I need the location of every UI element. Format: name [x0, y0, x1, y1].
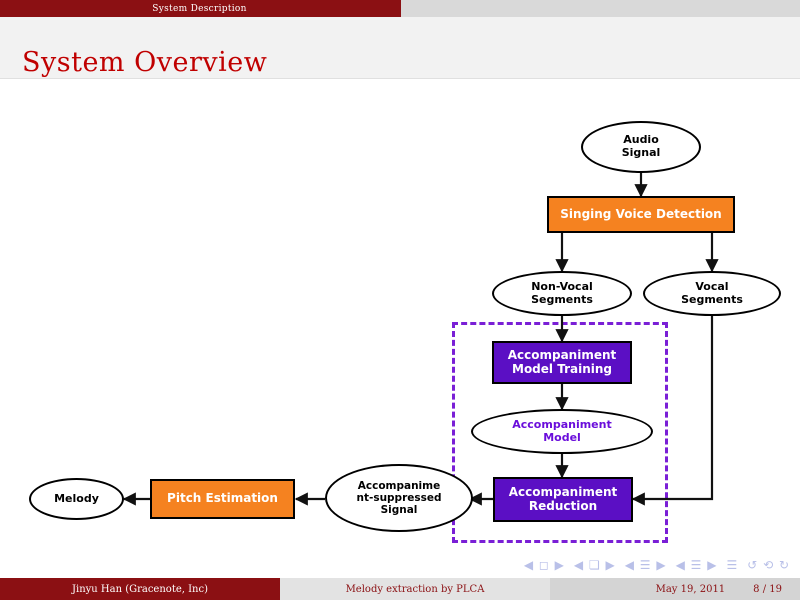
node-accompaniment-model[interactable]: Accompaniment Model — [471, 409, 653, 454]
page-title: System Overview — [22, 47, 267, 78]
node-pitch-estimation[interactable]: Pitch Estimation — [150, 479, 295, 519]
title-band: System Overview — [0, 17, 800, 79]
node-non-vocal-segments[interactable]: Non-Vocal Segments — [492, 271, 632, 316]
nav-slide-icon[interactable]: ◀ ◻ ▶ — [524, 558, 565, 572]
navbar: System Description — [0, 0, 800, 17]
node-pitch-estimation-label: Pitch Estimation — [167, 492, 278, 506]
node-accompaniment-model-training[interactable]: Accompaniment Model Training — [492, 341, 632, 384]
slide-canvas: Audio Signal Singing Voice Detection Non… — [0, 79, 800, 553]
footer-date: May 19, 2011 — [656, 584, 726, 595]
node-non-vocal-segments-label: Non-Vocal Segments — [531, 281, 593, 306]
node-singing-voice-detection[interactable]: Singing Voice Detection — [547, 196, 735, 233]
footer-subject: Melody extraction by PLCA — [280, 578, 550, 600]
nav-back-find-icon[interactable]: ↺ ⟲ ↻ — [747, 558, 790, 572]
node-singing-voice-detection-label: Singing Voice Detection — [560, 208, 721, 222]
navbar-section-system-description[interactable]: System Description — [0, 0, 401, 17]
node-audio-signal-label: Audio Signal — [622, 134, 661, 159]
nav-frame-icon[interactable]: ◀ ❏ ▶ — [574, 558, 616, 572]
node-melody-label: Melody — [54, 493, 99, 506]
nav-subsection-icon[interactable]: ◀ ☰ ▶ — [625, 558, 667, 572]
footer-page-number: 8 / 19 — [753, 584, 782, 595]
node-accompaniment-model-label: Accompaniment Model — [512, 419, 611, 444]
node-accompaniment-reduction[interactable]: Accompaniment Reduction — [493, 477, 633, 522]
slide-footer: Jinyu Han (Gracenote, Inc) Melody extrac… — [0, 578, 800, 600]
node-accompaniment-model-training-label: Accompaniment Model Training — [508, 349, 617, 377]
node-accompaniment-reduction-label: Accompaniment Reduction — [509, 486, 618, 514]
system-overview-flowchart: Audio Signal Singing Voice Detection Non… — [0, 79, 800, 553]
node-audio-signal[interactable]: Audio Signal — [581, 121, 701, 173]
footer-author: Jinyu Han (Gracenote, Inc) — [0, 578, 280, 600]
node-vocal-segments-label: Vocal Segments — [681, 281, 743, 306]
node-melody[interactable]: Melody — [29, 478, 124, 520]
node-accompaniment-suppressed-signal-label: Accompanime nt-suppressed Signal — [356, 480, 441, 516]
beamer-navigation-symbols: ◀ ◻ ▶ ◀ ❏ ▶ ◀ ☰ ▶ ◀ ☰ ▶ ☰ ↺ ⟲ ↻ — [498, 556, 790, 574]
nav-presentation-icon[interactable]: ☰ — [726, 558, 738, 572]
footer-meta: May 19, 2011 8 / 19 — [550, 578, 800, 600]
edge-vocal-to-reduction — [633, 316, 712, 499]
node-accompaniment-suppressed-signal[interactable]: Accompanime nt-suppressed Signal — [325, 464, 473, 532]
nav-section-icon[interactable]: ◀ ☰ ▶ — [676, 558, 718, 572]
node-vocal-segments[interactable]: Vocal Segments — [643, 271, 781, 316]
